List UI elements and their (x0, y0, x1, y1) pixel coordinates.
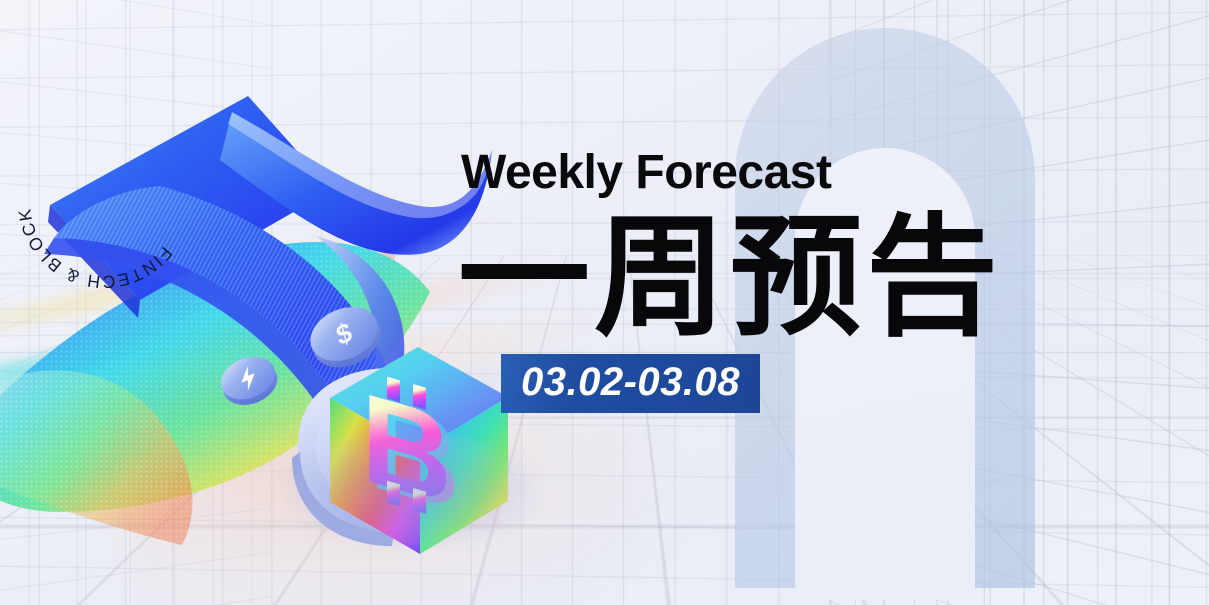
stamp-text: FINTECH & BLOCKCHAIN (6, 104, 176, 292)
page-title-chinese: 一周预告 (458, 212, 1061, 344)
headline-block: Weekly Forecast 一周预告 03.02-03.08 (461, 148, 1061, 413)
date-range-badge: 03.02-03.08 (501, 354, 760, 413)
fintech-blockchain-stamp: FINTECH & BLOCKCHAIN (6, 104, 202, 300)
stamp-svg: FINTECH & BLOCKCHAIN (6, 104, 202, 300)
weekly-forecast-banner: $ B B (0, 0, 1209, 605)
page-title-english: Weekly Forecast (461, 148, 1061, 198)
cube-shadow (286, 430, 541, 550)
stamp-textpath: FINTECH & BLOCKCHAIN (6, 104, 176, 292)
